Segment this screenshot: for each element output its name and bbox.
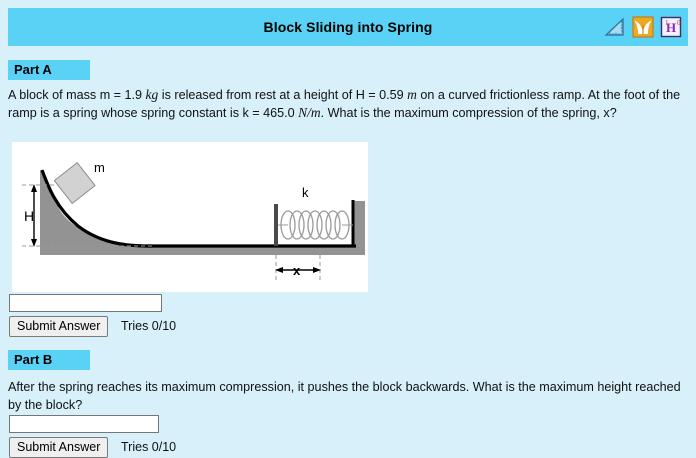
spring-constant-label: k: [302, 185, 309, 200]
h-logo-icon[interactable]: H 1 0: [660, 16, 682, 38]
mass-label: m: [94, 160, 105, 175]
page-header-bar: Block Sliding into Spring: [8, 8, 688, 46]
compression-label: x: [293, 263, 301, 278]
spring-end-plate: [274, 204, 278, 246]
text-token: A block of mass m = 1.9: [8, 88, 146, 102]
part-b-tries-counter: Tries 0/10: [121, 437, 176, 458]
unit-token: kg: [146, 87, 159, 102]
part-a-answer-input[interactable]: [9, 294, 162, 312]
part-b-question-text: After the spring reaches its maximum com…: [8, 378, 686, 414]
text-token: . What is the maximum compression of the…: [321, 106, 617, 120]
open-book-icon[interactable]: [632, 16, 654, 38]
height-label: H: [24, 208, 34, 224]
part-a-heading: Part A: [8, 60, 90, 80]
header-icon-group: H 1 0: [604, 16, 682, 38]
svg-text:0: 0: [677, 19, 681, 27]
part-b-heading: Part B: [8, 350, 90, 370]
unit-token: N/m: [298, 105, 321, 120]
svg-text:1: 1: [665, 19, 669, 27]
part-a-tries-counter: Tries 0/10: [121, 316, 176, 337]
problem-diagram-panel: m H k: [12, 142, 368, 292]
part-a-submit-button[interactable]: Submit Answer: [9, 316, 108, 337]
spring-coils: [281, 211, 349, 239]
unit-token: m: [407, 87, 417, 102]
page-title: Block Sliding into Spring: [264, 19, 433, 35]
part-a-question-text: A block of mass m = 1.9 kg is released f…: [8, 86, 686, 122]
part-b-submit-button[interactable]: Submit Answer: [9, 437, 108, 458]
sliding-block: [54, 163, 95, 204]
block-spring-ramp-diagram: m H k: [12, 142, 368, 292]
text-token: is released from rest at a height of H =…: [158, 88, 407, 102]
part-b-answer-input[interactable]: [9, 415, 159, 433]
triangle-ruler-icon[interactable]: [604, 16, 626, 38]
